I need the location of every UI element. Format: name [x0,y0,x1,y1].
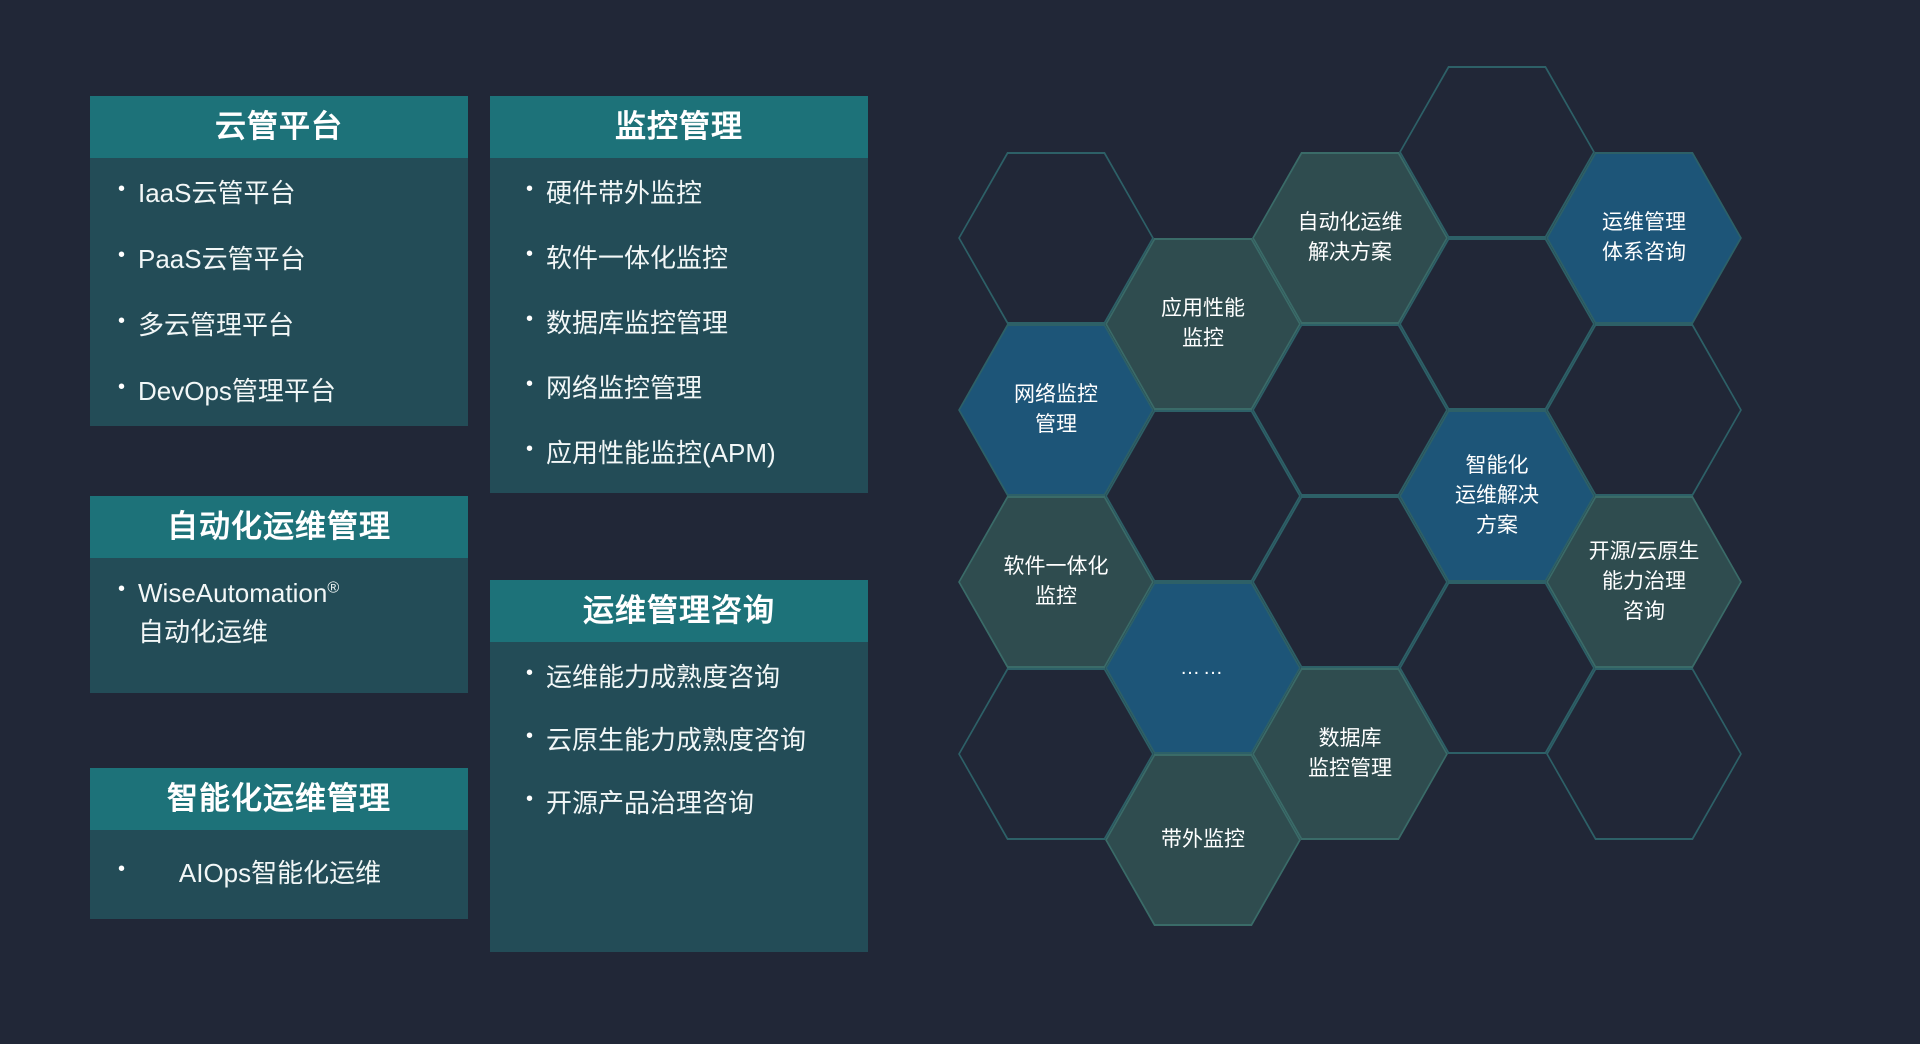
hexagon-label: 软件一体化 监控 [994,552,1119,612]
hexagon-label: 应用性能 监控 [1151,294,1255,354]
hexagon-label: 智能化 运维解决 方案 [1445,451,1549,540]
hexagon-label: 数据库 监控管理 [1298,724,1402,784]
hexagon-grid: 网络监控 管理软件一体化 监控应用性能 监控……带外监控自动化运维 解决方案数据… [0,0,1920,1044]
hexagon-label: 开源/云原生 能力治理 咨询 [1579,537,1710,626]
hexagon-label: 自动化运维 解决方案 [1288,208,1413,268]
hexagon-label: 网络监控 管理 [1004,380,1108,440]
infographic-root: 云管平台 IaaS云管平台 PaaS云管平台 多云管理平台 DevOps管理平台… [0,0,1920,1044]
hexagon-label: 运维管理 体系咨询 [1592,208,1696,268]
hexagon-label: 带外监控 [1151,825,1255,855]
hexagon-label: …… [1170,654,1236,682]
